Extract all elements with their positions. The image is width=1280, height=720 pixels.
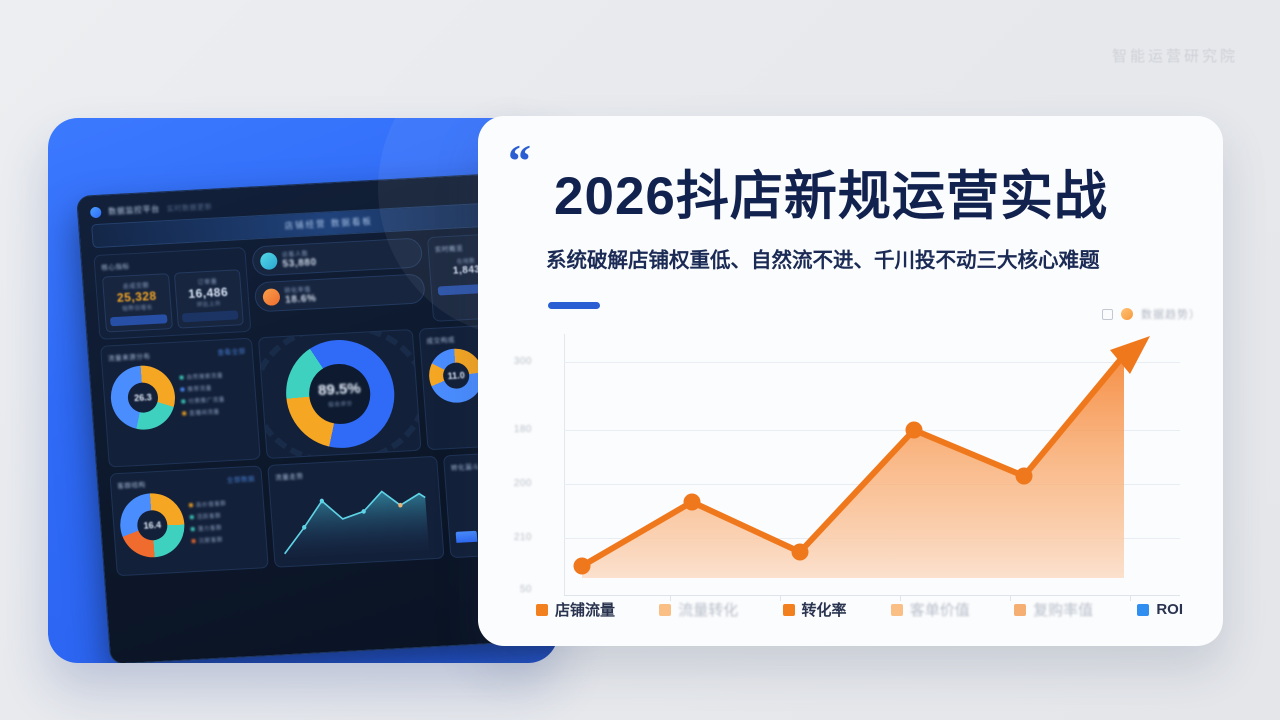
legend-swatch xyxy=(659,604,671,616)
donut-panel: 客群结构 全部数据 16.4 高价值客群 活跃客群 潜力客群 沉默客群 xyxy=(109,465,268,576)
y-tick-label: 50 xyxy=(488,584,532,595)
gauge-center-label: 综合评分 xyxy=(328,399,353,408)
orange-circle-icon xyxy=(262,288,280,306)
gauge-center-value: 89.5% xyxy=(317,379,361,398)
chart-point xyxy=(574,558,591,575)
legend-item-1[interactable]: 流量转化 xyxy=(659,599,738,620)
legend-swatch xyxy=(783,604,795,616)
donut-center-value: 11.0 xyxy=(447,370,465,381)
legend-item-3[interactable]: 客单价值 xyxy=(891,599,970,620)
kpi-panel-heading: 核心指标 xyxy=(101,260,130,272)
watermark-text: 智能运营研究院 xyxy=(1112,45,1238,66)
series-dot-icon xyxy=(1121,308,1133,320)
legend-label: ROI xyxy=(1156,601,1183,618)
chart-header-label: 数据趋势） xyxy=(1141,306,1201,322)
legend-label: 店铺流量 xyxy=(555,599,615,620)
donut-panel-action[interactable]: 全部数据 xyxy=(226,473,255,485)
growth-area-chart: 300 180 200 210 50 xyxy=(540,334,1180,596)
chart-point xyxy=(906,422,923,439)
legend-label: 流量转化 xyxy=(678,599,738,620)
legend-item-5[interactable]: ROI xyxy=(1137,601,1183,618)
kpi-card[interactable]: 订单量 16,486 环比上升 xyxy=(173,269,244,328)
donut-legend: 自然搜索流量 推荐流量 付费推广流量 直播间流量 xyxy=(179,371,226,417)
gauge-panel: 89.5% 综合评分 xyxy=(258,329,422,459)
legend-swatch xyxy=(536,604,548,616)
donut-center-value: 26.3 xyxy=(134,392,152,403)
chart-legend: 店铺流量 流量转化 转化率 客单价值 复购率值 ROI xyxy=(536,599,1183,620)
legend-swatch xyxy=(891,604,903,616)
chart-point xyxy=(684,494,701,511)
donut-legend-item: 沉默客群 xyxy=(198,537,223,544)
legend-label: 转化率 xyxy=(802,599,847,620)
metric-pill-group: 访客人数 53,880 转化率值 18.6% xyxy=(251,237,427,331)
donut-chart: 26.3 xyxy=(109,364,178,431)
quote-mark-icon: “ xyxy=(508,138,531,184)
area-chart xyxy=(276,478,437,560)
page-title: 2026抖店新规运营实战 xyxy=(554,154,1204,230)
area-chart-panel: 流量走势 xyxy=(267,456,444,568)
kpi-panel: 核心指标 总成交额 25,328 较昨日增长 订单量 16,48 xyxy=(93,247,251,340)
donut-legend: 高价值客群 活跃客群 潜力客群 沉默客群 xyxy=(189,499,230,545)
donut-chart: 11.0 xyxy=(427,347,485,404)
dashboard-title: 数据监控平台 xyxy=(108,203,160,217)
donut-legend-item: 付费推广流量 xyxy=(188,397,225,405)
legend-label: 复购率值 xyxy=(1033,599,1093,620)
donut-legend-item: 推荐流量 xyxy=(187,386,212,393)
donut-panel: 流量来源分布 查看全部 26.3 自然搜索流量 推荐流量 付费推广流量 xyxy=(100,338,261,468)
kpi-sub: 环比上升 xyxy=(181,298,238,309)
kpi-action-button[interactable] xyxy=(110,314,167,326)
kpi-sub: 较昨日增长 xyxy=(109,302,166,313)
legend-label: 客单价值 xyxy=(910,599,970,620)
area-chart-title: 流量走势 xyxy=(275,470,304,482)
donut-legend-item: 潜力客群 xyxy=(198,526,223,533)
donut-chart: 16.4 xyxy=(118,492,187,559)
kpi-card[interactable]: 总成交额 25,328 较昨日增长 xyxy=(102,273,173,332)
legend-item-0[interactable]: 店铺流量 xyxy=(536,599,615,620)
dashboard-meta: 实时数据更新 xyxy=(166,201,212,213)
donut-legend-item: 直播间流量 xyxy=(189,410,220,418)
donut-legend-item: 自然搜索流量 xyxy=(186,373,223,381)
donut-panel-title: 客群结构 xyxy=(117,479,146,491)
chart-area-fill xyxy=(582,352,1124,578)
donut-panel-action[interactable]: 查看全部 xyxy=(217,345,246,357)
circle-logo-icon xyxy=(90,207,102,219)
grid-icon xyxy=(1102,309,1113,320)
y-tick-label: 210 xyxy=(488,532,532,543)
metric-pill[interactable]: 访客人数 53,880 xyxy=(251,237,423,276)
pill-value: 53,880 xyxy=(282,257,317,270)
page-subtitle: 系统破解店铺权重低、自然流不进、千川投不动三大核心难题 xyxy=(546,243,1216,273)
chart-plot xyxy=(564,334,1180,596)
y-tick-label: 300 xyxy=(488,356,532,367)
legend-swatch xyxy=(1014,604,1026,616)
overview-heading: 实时概览 xyxy=(434,242,463,254)
pill-value: 18.6% xyxy=(285,293,317,306)
kpi-action-button[interactable] xyxy=(181,310,238,322)
chart-header: 数据趋势） xyxy=(1102,306,1201,322)
legend-item-2[interactable]: 转化率 xyxy=(783,599,847,620)
y-tick-label: 200 xyxy=(488,478,532,489)
y-tick-label: 180 xyxy=(488,424,532,435)
donut-legend-item: 高价值客群 xyxy=(196,501,227,509)
dashboard-banner-label: 店铺经营 数据看板 xyxy=(284,215,373,232)
legend-item-4[interactable]: 复购率值 xyxy=(1014,599,1093,620)
bar-chart-title: 转化漏斗 xyxy=(450,461,479,473)
donut-panel-title: 成交构成 xyxy=(426,334,455,346)
metric-pill[interactable]: 转化率值 18.6% xyxy=(254,273,426,312)
chart-point xyxy=(792,544,809,561)
slide-canvas: 智能运营研究院 数据监控平台 实时数据更新 店铺经营 数据看板 xyxy=(0,0,1280,720)
title-divider xyxy=(548,302,600,309)
donut-legend-item: 活跃客群 xyxy=(197,514,222,521)
donut-center-value: 16.4 xyxy=(143,520,161,531)
legend-swatch xyxy=(1137,604,1149,616)
donut-panel-title: 流量来源分布 xyxy=(108,350,151,362)
cyan-circle-icon xyxy=(260,252,278,270)
chart-point xyxy=(1016,468,1033,485)
content-card: “ 2026抖店新规运营实战 系统破解店铺权重低、自然流不进、千川投不动三大核心… xyxy=(478,116,1223,646)
